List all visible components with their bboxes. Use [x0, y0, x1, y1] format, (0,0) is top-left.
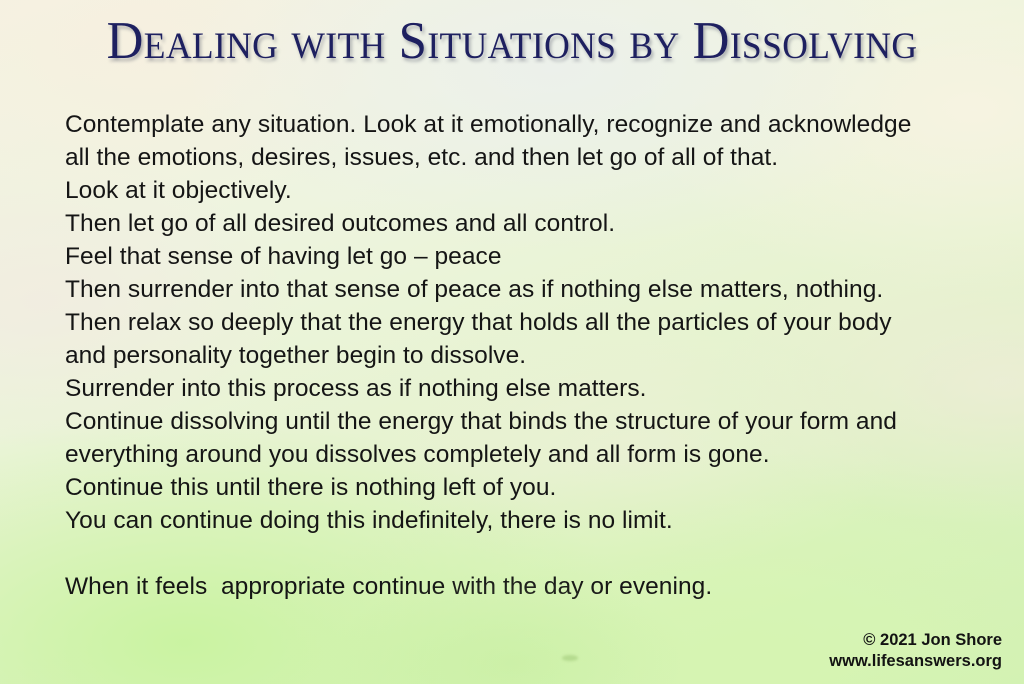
body-text-block: Contemplate any situation. Look at it em… [65, 108, 995, 603]
body-line: You can continue doing this indefinitely… [65, 504, 995, 537]
website-text: www.lifesanswers.org [829, 651, 1002, 672]
background-artifact [562, 655, 578, 661]
body-line: all the emotions, desires, issues, etc. … [65, 141, 995, 174]
body-line: Then surrender into that sense of peace … [65, 273, 995, 306]
body-line: Surrender into this process as if nothin… [65, 372, 995, 405]
body-line: Continue dissolving until the energy tha… [65, 405, 995, 438]
body-line: Feel that sense of having let go – peace [65, 240, 995, 273]
body-line: Then relax so deeply that the energy tha… [65, 306, 995, 339]
page-title: Dealing with Situations by Dissolving [20, 14, 1003, 70]
body-line: and personality together begin to dissol… [65, 339, 995, 372]
copyright-text: © 2021 Jon Shore [829, 630, 1002, 651]
body-line: Continue this until there is nothing lef… [65, 471, 995, 504]
body-line: everything around you dissolves complete… [65, 438, 995, 471]
body-line: Then let go of all desired outcomes and … [65, 207, 995, 240]
body-line-spacer [65, 537, 995, 570]
body-line: Contemplate any situation. Look at it em… [65, 108, 995, 141]
body-line: When it feels appropriate continue with … [65, 570, 995, 603]
body-line: Look at it objectively. [65, 174, 995, 207]
footer: © 2021 Jon Shore www.lifesanswers.org [829, 630, 1002, 672]
slide-canvas: Dealing with Situations by Dissolving Co… [0, 0, 1024, 684]
